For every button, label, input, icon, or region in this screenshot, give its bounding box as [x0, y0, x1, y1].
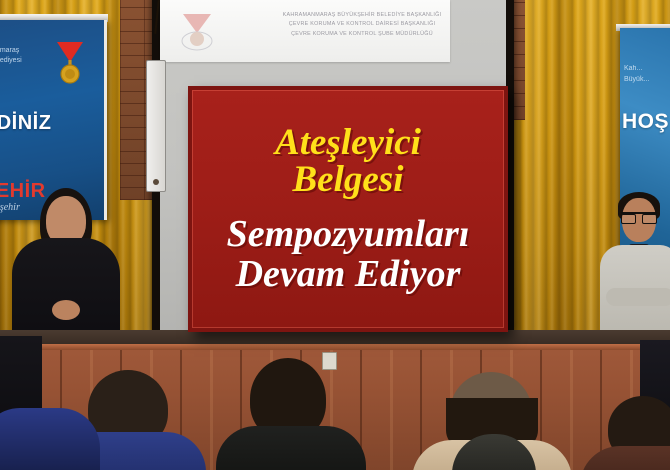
kahramanmaras-medal-icon [174, 8, 220, 54]
headline-line-3: Sempozyumları [227, 215, 470, 255]
wall-outlet [322, 352, 337, 370]
banner-right-org-line1: Kah... [624, 64, 670, 75]
slide-line-2: ÇEVRE KORUMA VE KONTROL DAİRESİ BAŞKANLI… [226, 20, 498, 29]
slide-line-1: KAHRAMANMARAŞ BÜYÜKŞEHİR BELEDİYE BAŞKAN… [226, 11, 498, 20]
man-presenter-crossed-arms [606, 288, 670, 306]
wood-chair-rail [0, 344, 670, 350]
banner-right-org: Kah... Büyük... [624, 64, 670, 85]
wall-shadow-band [0, 330, 670, 344]
banner-right-welcome: HOŞ [622, 110, 670, 134]
banner-left: ...maraş ...ediyesi LDİNİZ ŞEHİR her şeh… [0, 20, 107, 220]
banner-left-welcome: LDİNİZ [0, 112, 104, 135]
wall-fixture [146, 60, 166, 192]
projected-slide: KAHRAMANMARAŞ BÜYÜKŞEHİR BELEDİYE BAŞKAN… [160, 0, 450, 62]
news-photo: KAHRAMANMARAŞ BÜYÜKŞEHİR BELEDİYE BAŞKAN… [0, 0, 670, 470]
headline-text-block: Ateşleyici Belgesi Sempozyumları Devam E… [192, 90, 504, 328]
woman-presenter-hands [52, 300, 80, 320]
banner-right-org-line2: Büyük... [624, 75, 670, 86]
fixture-knob [153, 179, 159, 185]
slide-text-block: KAHRAMANMARAŞ BÜYÜKŞEHİR BELEDİYE BAŞKAN… [226, 11, 498, 39]
headline-line-4: Devam Ediyor [236, 255, 461, 295]
glasses-icon [621, 212, 657, 222]
headline-line-2: Belgesi [293, 161, 404, 199]
kahramanmaras-medal-icon [50, 38, 90, 88]
headline-overlay-banner: Ateşleyici Belgesi Sempozyumları Devam E… [188, 86, 508, 332]
headline-line-1: Ateşleyici [275, 124, 421, 162]
slide-line-3: ÇEVRE KORUMA VE KONTROL ŞUBE MÜDÜRLÜĞÜ [226, 30, 498, 39]
